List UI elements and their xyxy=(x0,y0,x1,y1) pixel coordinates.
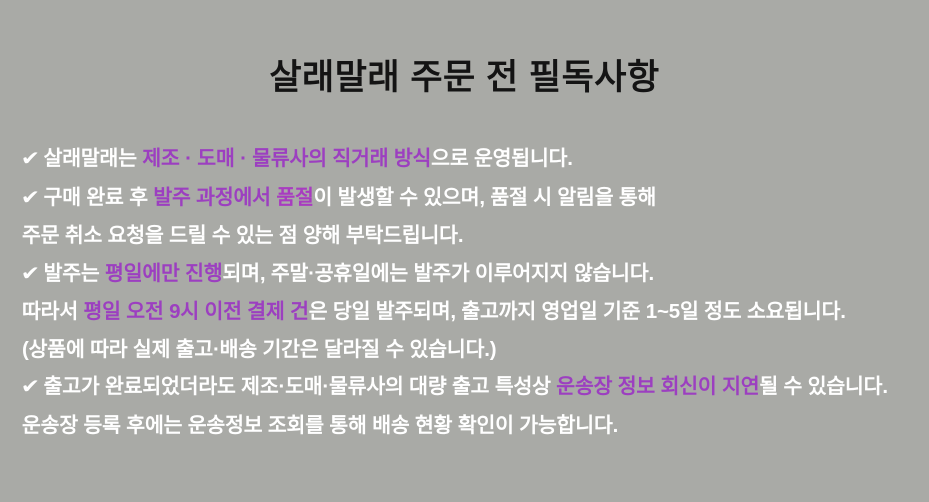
page-title: 살래말래 주문 전 필독사항 xyxy=(0,56,929,100)
notice-line: 따라서 평일 오전 9시 이전 결제 건은 당일 발주되며, 출고까지 영업일 … xyxy=(22,293,917,331)
notice-text: 으로 운영됩니다. xyxy=(431,147,573,170)
notice-card: 살래말래 주문 전 필독사항 ✔살래말래는 제조 · 도매 · 물류사의 직거래… xyxy=(0,0,929,502)
notice-text: (상품에 따라 실제 출고·배송 기간은 달라질 수 있습니다.) xyxy=(22,338,496,361)
notice-text: 따라서 xyxy=(22,300,83,323)
check-icon: ✔ xyxy=(21,180,40,218)
notice-text: 이 발생할 수 있으며, 품절 시 알림을 통해 xyxy=(314,186,657,209)
notice-text: 주문 취소 요청을 드릴 수 있는 점 양해 부탁드립니다. xyxy=(22,224,463,247)
notice-text: 될 수 있습니다. xyxy=(759,375,887,398)
highlighted-text: 발주 과정에서 xyxy=(153,186,276,209)
highlighted-text: 평일 오전 9시 이전 결제 건 xyxy=(83,300,308,323)
notice-line: (상품에 따라 실제 출고·배송 기간은 달라질 수 있습니다.) xyxy=(22,331,917,369)
highlighted-text: 제조 · 도매 · 물류사의 직거래 방식 xyxy=(142,147,431,170)
notice-line: ✔구매 완료 후 발주 과정에서 품절이 발생할 수 있으며, 품절 시 알림을… xyxy=(22,179,917,218)
notice-line: ✔출고가 완료되었더라도 제조·도매·물류사의 대량 출고 특성상 운송장 정보… xyxy=(22,368,917,407)
notice-list: ✔살래말래는 제조 · 도매 · 물류사의 직거래 방식으로 운영됩니다.✔구매… xyxy=(22,140,917,444)
check-icon: ✔ xyxy=(21,141,40,179)
check-icon: ✔ xyxy=(21,256,40,294)
notice-text: 은 당일 발주되며, 출고까지 영업일 기준 1~5일 정도 소요됩니다. xyxy=(309,300,846,323)
notice-line: 운송장 등록 후에는 운송정보 조회를 통해 배송 현황 확인이 가능합니다. xyxy=(22,407,917,445)
notice-line: ✔발주는 평일에만 진행되며, 주말·공휴일에는 발주가 이루어지지 않습니다. xyxy=(22,255,917,294)
notice-text: 되며, 주말·공휴일에는 발주가 이루어지지 않습니다. xyxy=(223,262,654,285)
notice-text: 운송장 등록 후에는 운송정보 조회를 통해 배송 현황 확인이 가능합니다. xyxy=(22,414,618,437)
notice-text: 구매 완료 후 xyxy=(44,186,154,209)
highlighted-text: 평일에만 진행 xyxy=(105,262,222,285)
notice-text: 발주는 xyxy=(44,262,105,285)
highlighted-text: 품절 xyxy=(276,186,313,209)
notice-line: ✔살래말래는 제조 · 도매 · 물류사의 직거래 방식으로 운영됩니다. xyxy=(22,140,917,179)
notice-text: 살래말래는 xyxy=(44,147,143,170)
notice-text: 출고가 완료되었더라도 제조·도매·물류사의 대량 출고 특성상 xyxy=(44,375,557,398)
check-icon: ✔ xyxy=(21,369,40,407)
highlighted-text: 운송장 정보 회신이 지연 xyxy=(556,375,759,398)
notice-line: 주문 취소 요청을 드릴 수 있는 점 양해 부탁드립니다. xyxy=(22,217,917,255)
